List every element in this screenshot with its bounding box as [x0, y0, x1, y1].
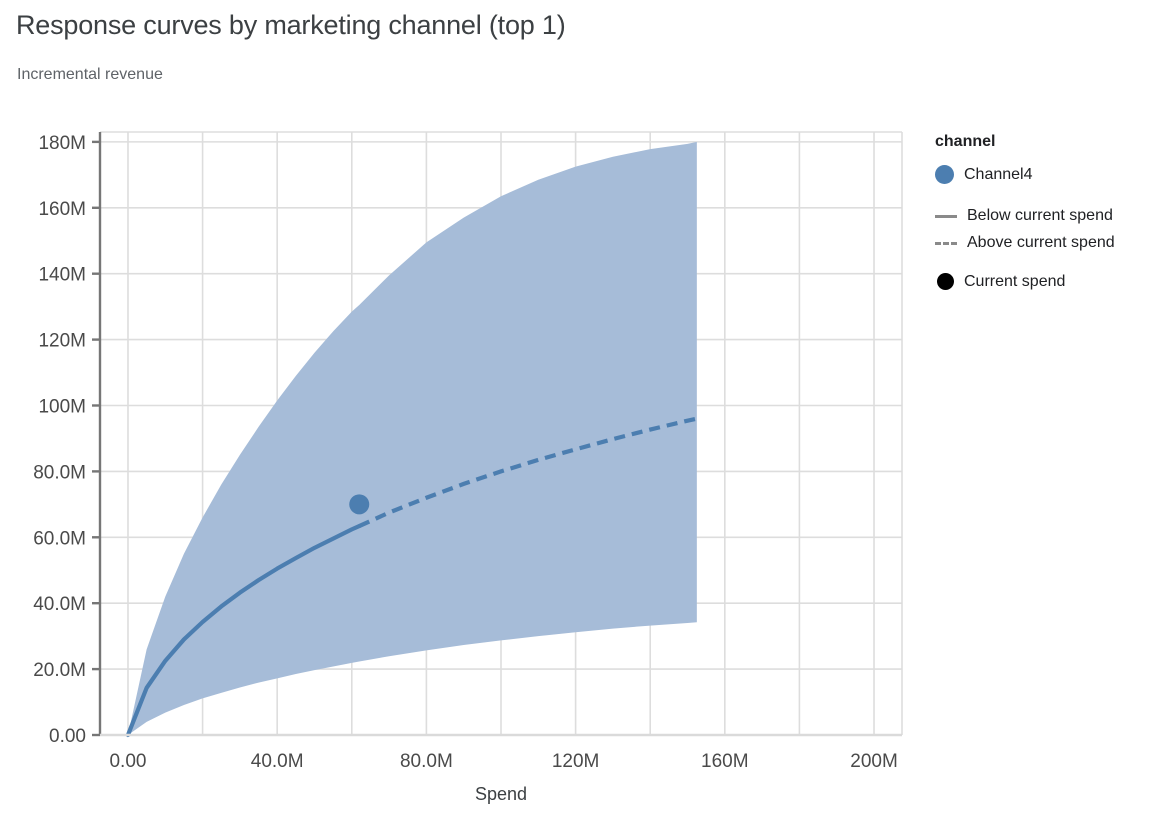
- x-tick-labels: 0.0040.0M80.0M120M160M200M: [109, 751, 897, 772]
- y-tick-label: 180M: [38, 133, 86, 154]
- legend-item-current-spend[interactable]: Current spend: [935, 273, 1065, 290]
- current-spend-dot-icon: [937, 273, 954, 290]
- y-tick-label: 20.0M: [33, 660, 86, 681]
- x-tick-label: 200M: [850, 751, 898, 772]
- legend-item-above-current-spend[interactable]: Above current spend: [935, 235, 1115, 251]
- x-tick-label: 80.0M: [400, 751, 453, 772]
- legend-item-below-current-spend[interactable]: Below current spend: [935, 208, 1113, 224]
- x-tick-label: 0.00: [109, 751, 146, 772]
- x-axis-title: Spend: [475, 784, 527, 804]
- y-tick-label: 100M: [38, 396, 86, 417]
- y-tick-labels: 0.0020.0M40.0M60.0M80.0M100M120M140M160M…: [33, 133, 86, 747]
- x-tick-label: 120M: [552, 751, 600, 772]
- y-tick-label: 80.0M: [33, 462, 86, 483]
- y-tick-label: 160M: [38, 199, 86, 220]
- uncertainty-band: [128, 142, 697, 735]
- legend-item-channel4[interactable]: Channel4: [935, 165, 1033, 184]
- current-spend-marker: [349, 494, 369, 514]
- y-tick-label: 40.0M: [33, 594, 86, 615]
- y-tick-label: 60.0M: [33, 528, 86, 549]
- response-curve-chart: 0.0040.0M80.0M120M160M200M 0.0020.0M40.0…: [0, 0, 1164, 814]
- y-tick-label: 0.00: [49, 726, 86, 747]
- legend-title: channel: [935, 133, 995, 151]
- solid-line-icon: [935, 215, 957, 218]
- dashed-line-icon: [935, 242, 957, 245]
- legend-label-current-spend: Current spend: [964, 274, 1065, 290]
- chart-svg: 0.0040.0M80.0M120M160M200M 0.0020.0M40.0…: [0, 0, 1164, 814]
- y-tick-label: 140M: [38, 265, 86, 286]
- legend-label-above-current-spend: Above current spend: [967, 235, 1115, 251]
- legend-label-below-current-spend: Below current spend: [967, 208, 1113, 224]
- y-tick-label: 120M: [38, 331, 86, 352]
- x-tick-label: 160M: [701, 751, 749, 772]
- channel4-color-swatch-icon: [935, 165, 954, 184]
- x-tick-label: 40.0M: [251, 751, 304, 772]
- legend-label-channel4: Channel4: [964, 167, 1033, 183]
